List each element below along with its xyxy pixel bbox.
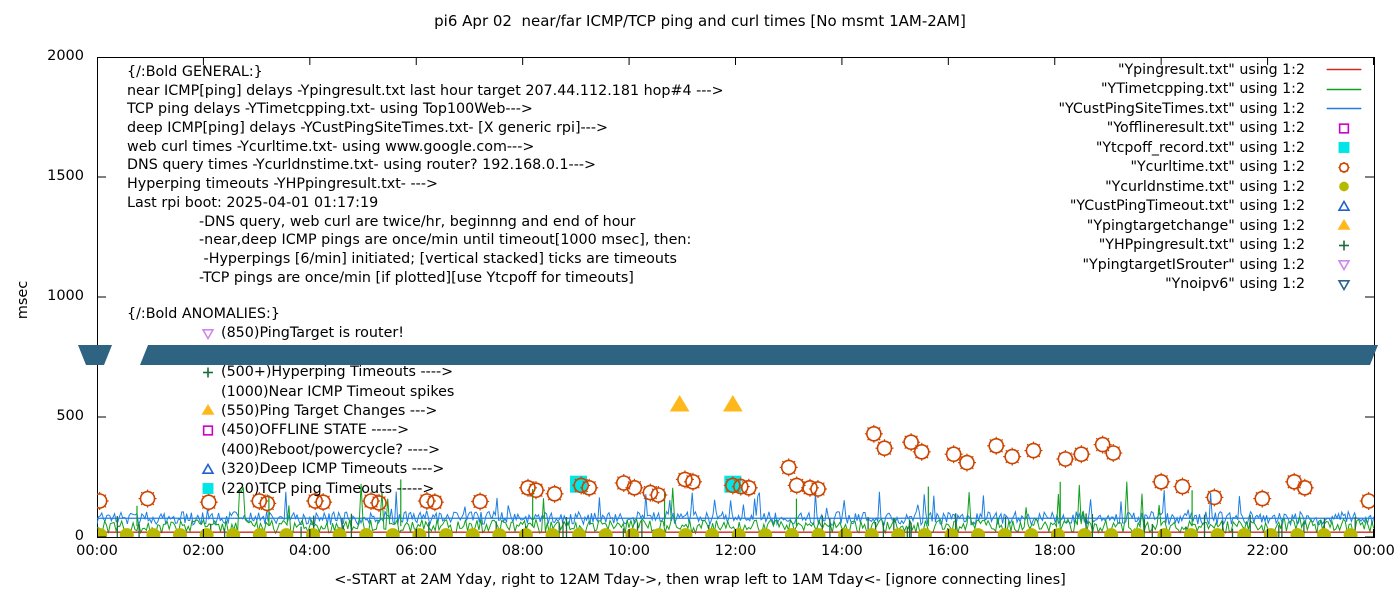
marker-web-curl-times — [913, 443, 931, 461]
anomaly-row: (400)Reboot/powercycle? ----> — [127, 440, 454, 459]
marker-dns-query-time — [120, 529, 133, 537]
x-tick-label: 14:00 — [802, 543, 882, 559]
marker-dns-query-time — [892, 529, 905, 537]
legend-item-label: "Ycurltime.txt" using 1:2 — [955, 159, 1313, 175]
marker-web-curl-times — [780, 458, 798, 476]
marker-dns-query-time — [1025, 529, 1038, 537]
marker-dns-query-time — [413, 529, 426, 537]
anomaly-symbol-open-square-icon — [197, 421, 219, 440]
anomaly-row: (320)Deep ICMP Timeouts ----> — [127, 459, 454, 478]
anomaly-label: (550)Ping Target Changes ---> — [221, 403, 437, 419]
marker-dns-query-time — [147, 529, 160, 537]
anomaly-label: (500+)Hyperping Timeouts ----> — [221, 364, 453, 380]
legend-item-symbol-filled-square-icon — [1313, 138, 1375, 158]
legend-item[interactable]: "Ypingresult.txt" using 1:2 — [955, 60, 1375, 80]
y-tick-label: 1500 — [4, 168, 84, 184]
marker-web-curl-times — [527, 481, 545, 499]
general-indented-note-line: -DNS query, web curl are twice/hr, begin… — [127, 213, 724, 232]
marker-dns-query-time — [972, 529, 985, 537]
x-tick-label: 20:00 — [1121, 543, 1201, 559]
marker-web-curl-times — [684, 473, 702, 491]
anomaly-row: (850)PingTarget is router! — [127, 324, 454, 343]
marker-dns-query-time — [360, 529, 373, 537]
anomaly-row: (795)No ipv6 failure!---> — [127, 343, 454, 362]
anomaly-label: (850)PingTarget is router! — [221, 325, 404, 341]
marker-dns-query-time — [519, 529, 532, 537]
marker-dns-query-time — [652, 529, 665, 537]
anomaly-row: (1000)Near ICMP Timeout spikes — [127, 382, 454, 401]
legend-item-symbol-filled-triangle-up-icon — [1313, 216, 1375, 236]
legend-item-label: "Yofflineresult.txt" using 1:2 — [955, 120, 1313, 136]
y-tick-label: 0 — [4, 528, 84, 544]
legend-item-label: "YCustPingTimeout.txt" using 1:2 — [955, 198, 1313, 214]
marker-dns-query-time — [785, 529, 798, 537]
anomalies-annotation-block: {/:Bold ANOMALIES:} (850)PingTarget is r… — [127, 305, 454, 498]
legend-item[interactable]: "Yofflineresult.txt" using 1:2 — [955, 119, 1375, 139]
marker-web-curl-times — [875, 439, 893, 457]
legend-item-label: "Ynoipv6" using 1:2 — [955, 276, 1313, 292]
marker-dns-query-time — [1131, 529, 1144, 537]
x-tick-label: 22:00 — [1228, 543, 1308, 559]
general-note-line: deep ICMP[ping] delays -YCustPingSiteTim… — [127, 119, 724, 138]
anomaly-symbol-open-triangle-down-icon — [197, 343, 219, 362]
anomaly-symbol-filled-triangle-up-icon — [197, 401, 219, 420]
general-heading: {/:Bold GENERAL:} — [127, 63, 724, 82]
legend-item-label: "Ypingtargetchange" using 1:2 — [955, 218, 1313, 234]
anomaly-row: (450)OFFLINE STATE -----> — [127, 421, 454, 440]
marker-dns-query-time — [493, 529, 506, 537]
marker-dns-query-time — [307, 529, 320, 537]
legend-item-symbol-line-icon — [1313, 60, 1375, 80]
general-annotation-block: {/:Bold GENERAL:} near ICMP[ping] delays… — [127, 63, 724, 287]
chart-root: pi6 Apr 02 near/far ICMP/TCP ping and cu… — [0, 0, 1400, 600]
legend-item-label: "YTimetcpping.txt" using 1:2 — [955, 81, 1313, 97]
marker-dns-query-time — [1291, 529, 1304, 537]
marker-web-curl-times — [1360, 492, 1374, 510]
x-tick-label: 16:00 — [908, 543, 988, 559]
legend-item-symbol-plus-icon — [1313, 236, 1375, 256]
general-note-line: Hyperping timeouts -YHPpingresult.txt- -… — [127, 175, 724, 194]
anomaly-row: (500+)Hyperping Timeouts ----> — [127, 362, 454, 381]
anomaly-label: (320)Deep ICMP Timeouts ----> — [221, 461, 444, 477]
y-tick-label: 500 — [4, 408, 84, 424]
anomaly-symbol-open-triangle-up-icon — [197, 460, 219, 479]
marker-dns-query-time — [626, 529, 639, 537]
marker-dns-query-time — [386, 529, 399, 537]
marker-ping-target-changes — [724, 396, 742, 411]
marker-dns-query-time — [280, 529, 293, 537]
legend-item-label: "Ypingresult.txt" using 1:2 — [955, 62, 1313, 78]
legend-item[interactable]: "Ytcpoff_record.txt" using 1:2 — [955, 138, 1375, 158]
marker-dns-query-time — [253, 529, 266, 537]
legend-item-symbol-filled-circle-icon — [1313, 177, 1375, 197]
x-tick-label: 08:00 — [483, 543, 563, 559]
anomaly-label: (1000)Near ICMP Timeout spikes — [221, 384, 454, 400]
legend-item[interactable]: "Ypingtargetchange" using 1:2 — [955, 216, 1375, 236]
marker-dns-query-time — [1318, 529, 1331, 537]
legend-item-symbol-line-icon — [1313, 99, 1375, 119]
legend-item-label: "YpingtargetISrouter" using 1:2 — [955, 257, 1313, 273]
legend-item[interactable]: "YpingtargetISrouter" using 1:2 — [955, 255, 1375, 275]
general-note-line: DNS query times -Ycurldnstime.txt- using… — [127, 156, 724, 175]
marker-dns-query-time — [1078, 529, 1091, 537]
marker-dns-query-time — [1185, 529, 1198, 537]
anomaly-row: (220)TCP ping Timeouts -----> — [127, 479, 454, 498]
anomaly-label: (795)No ipv6 failure!---> — [221, 345, 397, 361]
x-axis-caption: <-START at 2AM Yday, right to 12AM Tday-… — [0, 572, 1400, 588]
general-note-line: web curl times -Ycurltime.txt- using www… — [127, 138, 724, 157]
marker-web-curl-times — [987, 437, 1005, 455]
legend-item[interactable]: "Ycurltime.txt" using 1:2 — [955, 158, 1375, 178]
marker-dns-query-time — [1344, 529, 1357, 537]
y-tick-label: 1000 — [4, 288, 84, 304]
legend-item-symbol-open-triangle-up-icon — [1313, 197, 1375, 217]
anomaly-label: (220)TCP ping Timeouts -----> — [221, 481, 434, 497]
marker-dns-query-time — [759, 529, 772, 537]
general-indented-lines: -DNS query, web curl are twice/hr, begin… — [127, 213, 724, 288]
legend-item[interactable]: "YHPpingresult.txt" using 1:2 — [955, 236, 1375, 256]
x-tick-label: 04:00 — [270, 543, 350, 559]
marker-dns-query-time — [227, 529, 240, 537]
anomaly-label: (400)Reboot/powercycle? ----> — [221, 442, 440, 458]
marker-web-curl-times — [1104, 444, 1122, 462]
marker-web-curl-times — [740, 479, 758, 497]
marker-dns-query-time — [918, 529, 931, 537]
x-tick-label: 10:00 — [589, 543, 669, 559]
marker-dns-query-time — [865, 529, 878, 537]
marker-dns-query-time — [200, 529, 213, 537]
legend-item-label: "YCustPingSiteTimes.txt" using 1:2 — [955, 101, 1313, 117]
marker-web-curl-times — [641, 484, 659, 502]
legend: "Ypingresult.txt" using 1:2"YTimetcpping… — [955, 60, 1375, 294]
anomaly-row: (550)Ping Target Changes ---> — [127, 401, 454, 420]
legend-item[interactable]: "YTimetcpping.txt" using 1:2 — [955, 80, 1375, 100]
marker-dns-query-time — [97, 529, 107, 537]
x-tick-label: 18:00 — [1015, 543, 1095, 559]
marker-dns-query-time — [1211, 529, 1224, 537]
marker-web-curl-times — [1253, 490, 1271, 508]
marker-dns-query-time — [466, 529, 479, 537]
marker-ping-target-changes — [671, 396, 689, 411]
marker-web-curl-times — [865, 425, 883, 443]
anomalies-heading: {/:Bold ANOMALIES:} — [127, 305, 454, 324]
general-indented-note-line: -TCP pings are once/min [if plotted][use… — [127, 269, 724, 288]
anomaly-symbol-filled-square-icon — [197, 479, 219, 498]
marker-dns-query-time — [1051, 529, 1064, 537]
marker-web-curl-times — [1296, 479, 1314, 497]
x-tick-label: 00:00 — [57, 543, 137, 559]
x-tick-label: 00:00 — [1334, 543, 1400, 559]
marker-dns-query-time — [732, 529, 745, 537]
x-tick-label: 02:00 — [163, 543, 243, 559]
marker-web-curl-times — [546, 485, 564, 503]
marker-web-curl-times — [519, 479, 537, 497]
marker-web-curl-times — [1094, 436, 1112, 454]
anomaly-symbol-open-triangle-down-icon — [197, 324, 219, 343]
legend-item-symbol-open-circle-icon — [1313, 158, 1375, 178]
marker-web-curl-times — [625, 479, 643, 497]
legend-item[interactable]: "Ycurldnstime.txt" using 1:2 — [955, 177, 1375, 197]
marker-dns-query-time — [706, 529, 719, 537]
anomaly-symbol-plus-icon — [197, 363, 219, 382]
y-tick-label: 2000 — [4, 48, 84, 64]
marker-dns-query-time — [1238, 529, 1251, 537]
legend-item-symbol-open-triangle-down-icon — [1313, 275, 1375, 295]
marker-web-curl-times — [1024, 442, 1042, 460]
legend-item-label: "Ycurldnstime.txt" using 1:2 — [955, 179, 1313, 195]
general-note-line: near ICMP[ping] delays -Ypingresult.txt … — [127, 82, 724, 101]
anomaly-label: (450)OFFLINE STATE -----> — [221, 422, 409, 438]
marker-web-curl-times — [958, 454, 976, 472]
marker-web-curl-times — [649, 486, 667, 504]
marker-dns-query-time — [174, 529, 187, 537]
marker-web-curl-times — [580, 479, 598, 497]
marker-dns-query-time — [839, 529, 852, 537]
marker-web-curl-times — [1152, 473, 1170, 491]
legend-item[interactable]: "YCustPingSiteTimes.txt" using 1:2 — [955, 99, 1375, 119]
marker-dns-query-time — [1105, 529, 1118, 537]
marker-dns-query-time — [599, 529, 612, 537]
legend-item-symbol-open-triangle-down-icon — [1313, 255, 1375, 275]
x-tick-label: 06:00 — [376, 543, 456, 559]
marker-dns-query-time — [945, 529, 958, 537]
marker-dns-query-time — [1158, 529, 1171, 537]
marker-dns-query-time — [998, 529, 1011, 537]
marker-dns-query-time — [812, 529, 825, 537]
general-note-line: Last rpi boot: 2025-04-01 01:17:19 — [127, 194, 724, 213]
general-lines: near ICMP[ping] delays -Ypingresult.txt … — [127, 82, 724, 213]
marker-dns-query-time — [546, 529, 559, 537]
marker-web-curl-times — [809, 480, 827, 498]
marker-web-curl-times — [902, 433, 920, 451]
legend-item[interactable]: "YCustPingTimeout.txt" using 1:2 — [955, 197, 1375, 217]
marker-dns-query-time — [1264, 529, 1277, 537]
marker-web-curl-times — [676, 470, 694, 488]
chart-title: pi6 Apr 02 near/far ICMP/TCP ping and cu… — [0, 12, 1400, 30]
marker-dns-query-time — [573, 529, 586, 537]
marker-web-curl-times — [1072, 445, 1090, 463]
marker-web-curl-times — [1173, 478, 1191, 496]
general-note-line: TCP ping delays -YTimetcpping.txt- using… — [127, 100, 724, 119]
marker-web-curl-times — [97, 492, 109, 510]
legend-item-label: "YHPpingresult.txt" using 1:2 — [955, 237, 1313, 253]
anomaly-rows: (850)PingTarget is router!(795)No ipv6 f… — [127, 324, 454, 499]
general-indented-note-line: -near,deep ICMP pings are once/min until… — [127, 231, 724, 250]
marker-dns-query-time — [679, 529, 692, 537]
legend-item[interactable]: "Ynoipv6" using 1:2 — [955, 275, 1375, 295]
marker-web-curl-times — [1205, 488, 1223, 506]
legend-item-symbol-line-icon — [1313, 80, 1375, 100]
marker-dns-query-time — [333, 529, 346, 537]
general-indented-note-line: -Hyperpings [6/min] initiated; [vertical… — [127, 250, 724, 269]
marker-dns-query-time — [440, 529, 453, 537]
marker-web-curl-times — [1003, 448, 1021, 466]
legend-item-symbol-open-square-icon — [1313, 119, 1375, 139]
marker-web-curl-times — [1056, 450, 1074, 468]
x-tick-label: 12:00 — [696, 543, 776, 559]
legend-item-label: "Ytcpoff_record.txt" using 1:2 — [955, 140, 1313, 156]
marker-web-curl-times — [471, 492, 489, 510]
